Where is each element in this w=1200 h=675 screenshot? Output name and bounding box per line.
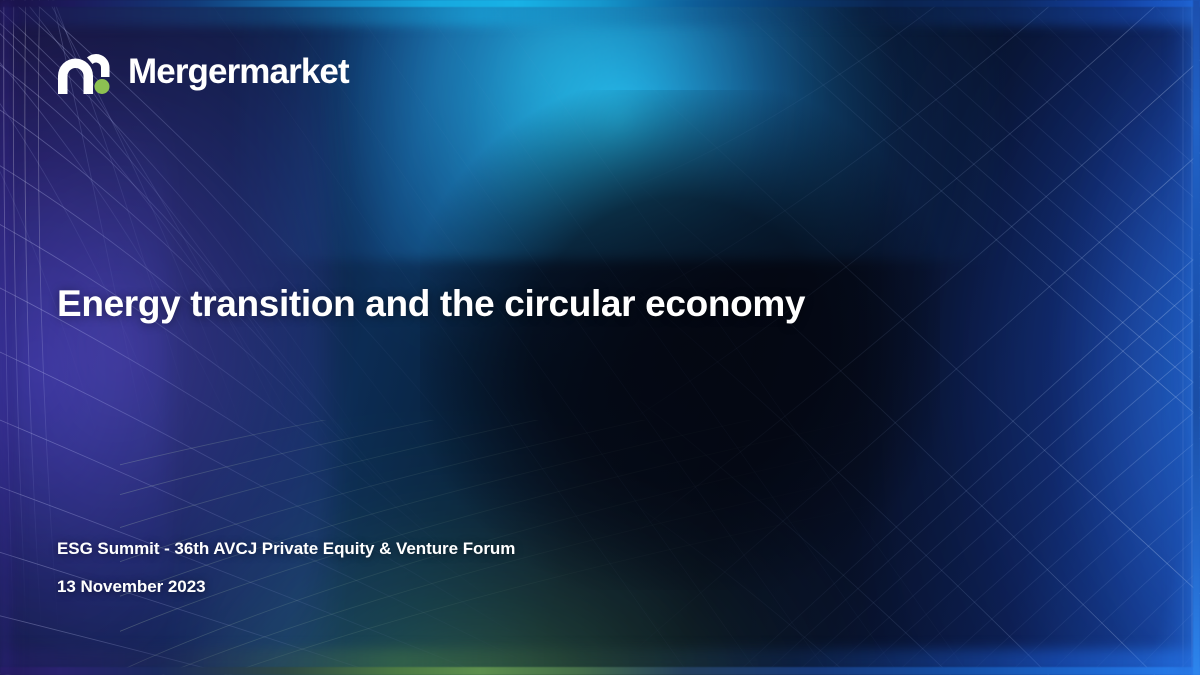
mergermarket-wordmark: Mergermarket [128,54,349,89]
footer-date: 13 November 2023 [57,578,515,595]
title-slide: Mergermarket Energy transition and the c… [0,0,1200,675]
mergermarket-logo: Mergermarket [56,46,349,96]
footer-event-name: ESG Summit - 36th AVCJ Private Equity & … [57,540,515,557]
slide-title: Energy transition and the circular econo… [57,283,805,326]
slide-content: Mergermarket Energy transition and the c… [0,0,1200,675]
slide-footer: ESG Summit - 36th AVCJ Private Equity & … [57,540,515,595]
mergermarket-arch-icon [56,46,114,96]
logo-accent-dot [95,79,110,94]
